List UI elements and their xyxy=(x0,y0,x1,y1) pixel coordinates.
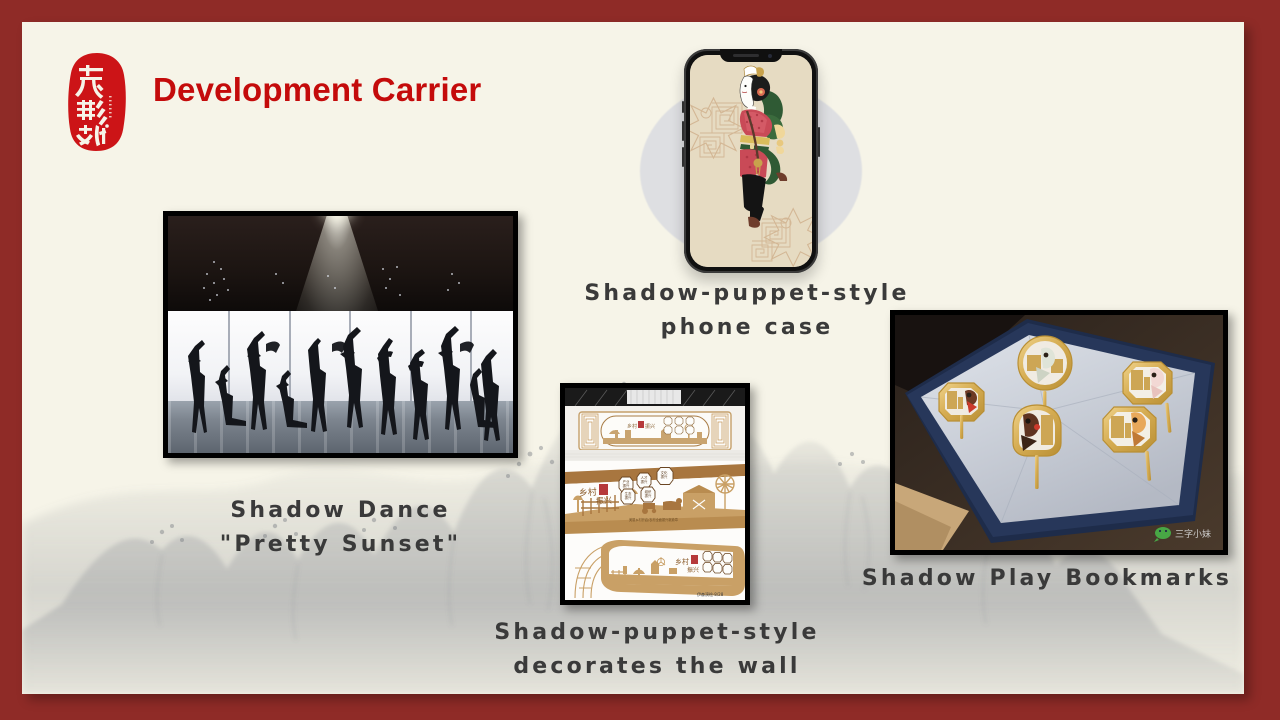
svg-text:振兴: 振兴 xyxy=(687,566,699,574)
svg-text:振兴: 振兴 xyxy=(625,495,632,500)
stage-scene xyxy=(168,216,513,453)
svg-text:美丽乡村开启/农村全面振兴新篇章: 美丽乡村开启/农村全面振兴新篇章 xyxy=(629,517,679,522)
slide-panel: Development Carrier xyxy=(22,22,1244,694)
svg-text:振兴: 振兴 xyxy=(641,479,648,484)
shadow-dance-photo[interactable] xyxy=(163,211,518,458)
wall-decoration-render: 乡村 振兴 xyxy=(565,388,745,600)
phone-case-mockup[interactable] xyxy=(610,22,898,284)
wall-decoration-caption: Shadow-puppet-style decorates the wall xyxy=(472,616,842,684)
slide-root: Development Carrier xyxy=(0,0,1280,720)
svg-text:伊森演绘·8/28: 伊森演绘·8/28 xyxy=(697,591,724,597)
bookmarks-photo[interactable]: 三字小妹 xyxy=(890,310,1228,555)
svg-text:振兴: 振兴 xyxy=(595,495,612,506)
phone-notch xyxy=(720,49,782,62)
shadow-play-seal-icon xyxy=(66,52,128,152)
svg-text:三字小妹: 三字小妹 xyxy=(1175,528,1211,540)
wall-decoration-photo[interactable]: 乡村 振兴 xyxy=(560,383,750,605)
svg-text:振兴: 振兴 xyxy=(645,423,655,430)
smartphone-frame xyxy=(684,49,818,273)
dancer-silhouettes xyxy=(168,216,513,453)
svg-text:振兴: 振兴 xyxy=(645,493,652,498)
bookmarks-render: 三字小妹 xyxy=(895,315,1223,550)
svg-text:振兴: 振兴 xyxy=(623,483,630,488)
phone-case-caption: Shadow-puppet-style phone case xyxy=(562,277,932,345)
svg-text:乡村: 乡村 xyxy=(627,423,637,430)
svg-text:振兴: 振兴 xyxy=(661,474,668,479)
page-title: Development Carrier xyxy=(153,71,481,109)
shadow-dance-caption: Shadow Dance "Pretty Sunset" xyxy=(148,494,533,562)
bookmarks-caption: Shadow Play Bookmarks xyxy=(852,562,1242,596)
phone-screen-wallpaper xyxy=(690,55,812,267)
svg-text:乡村: 乡村 xyxy=(675,557,689,566)
